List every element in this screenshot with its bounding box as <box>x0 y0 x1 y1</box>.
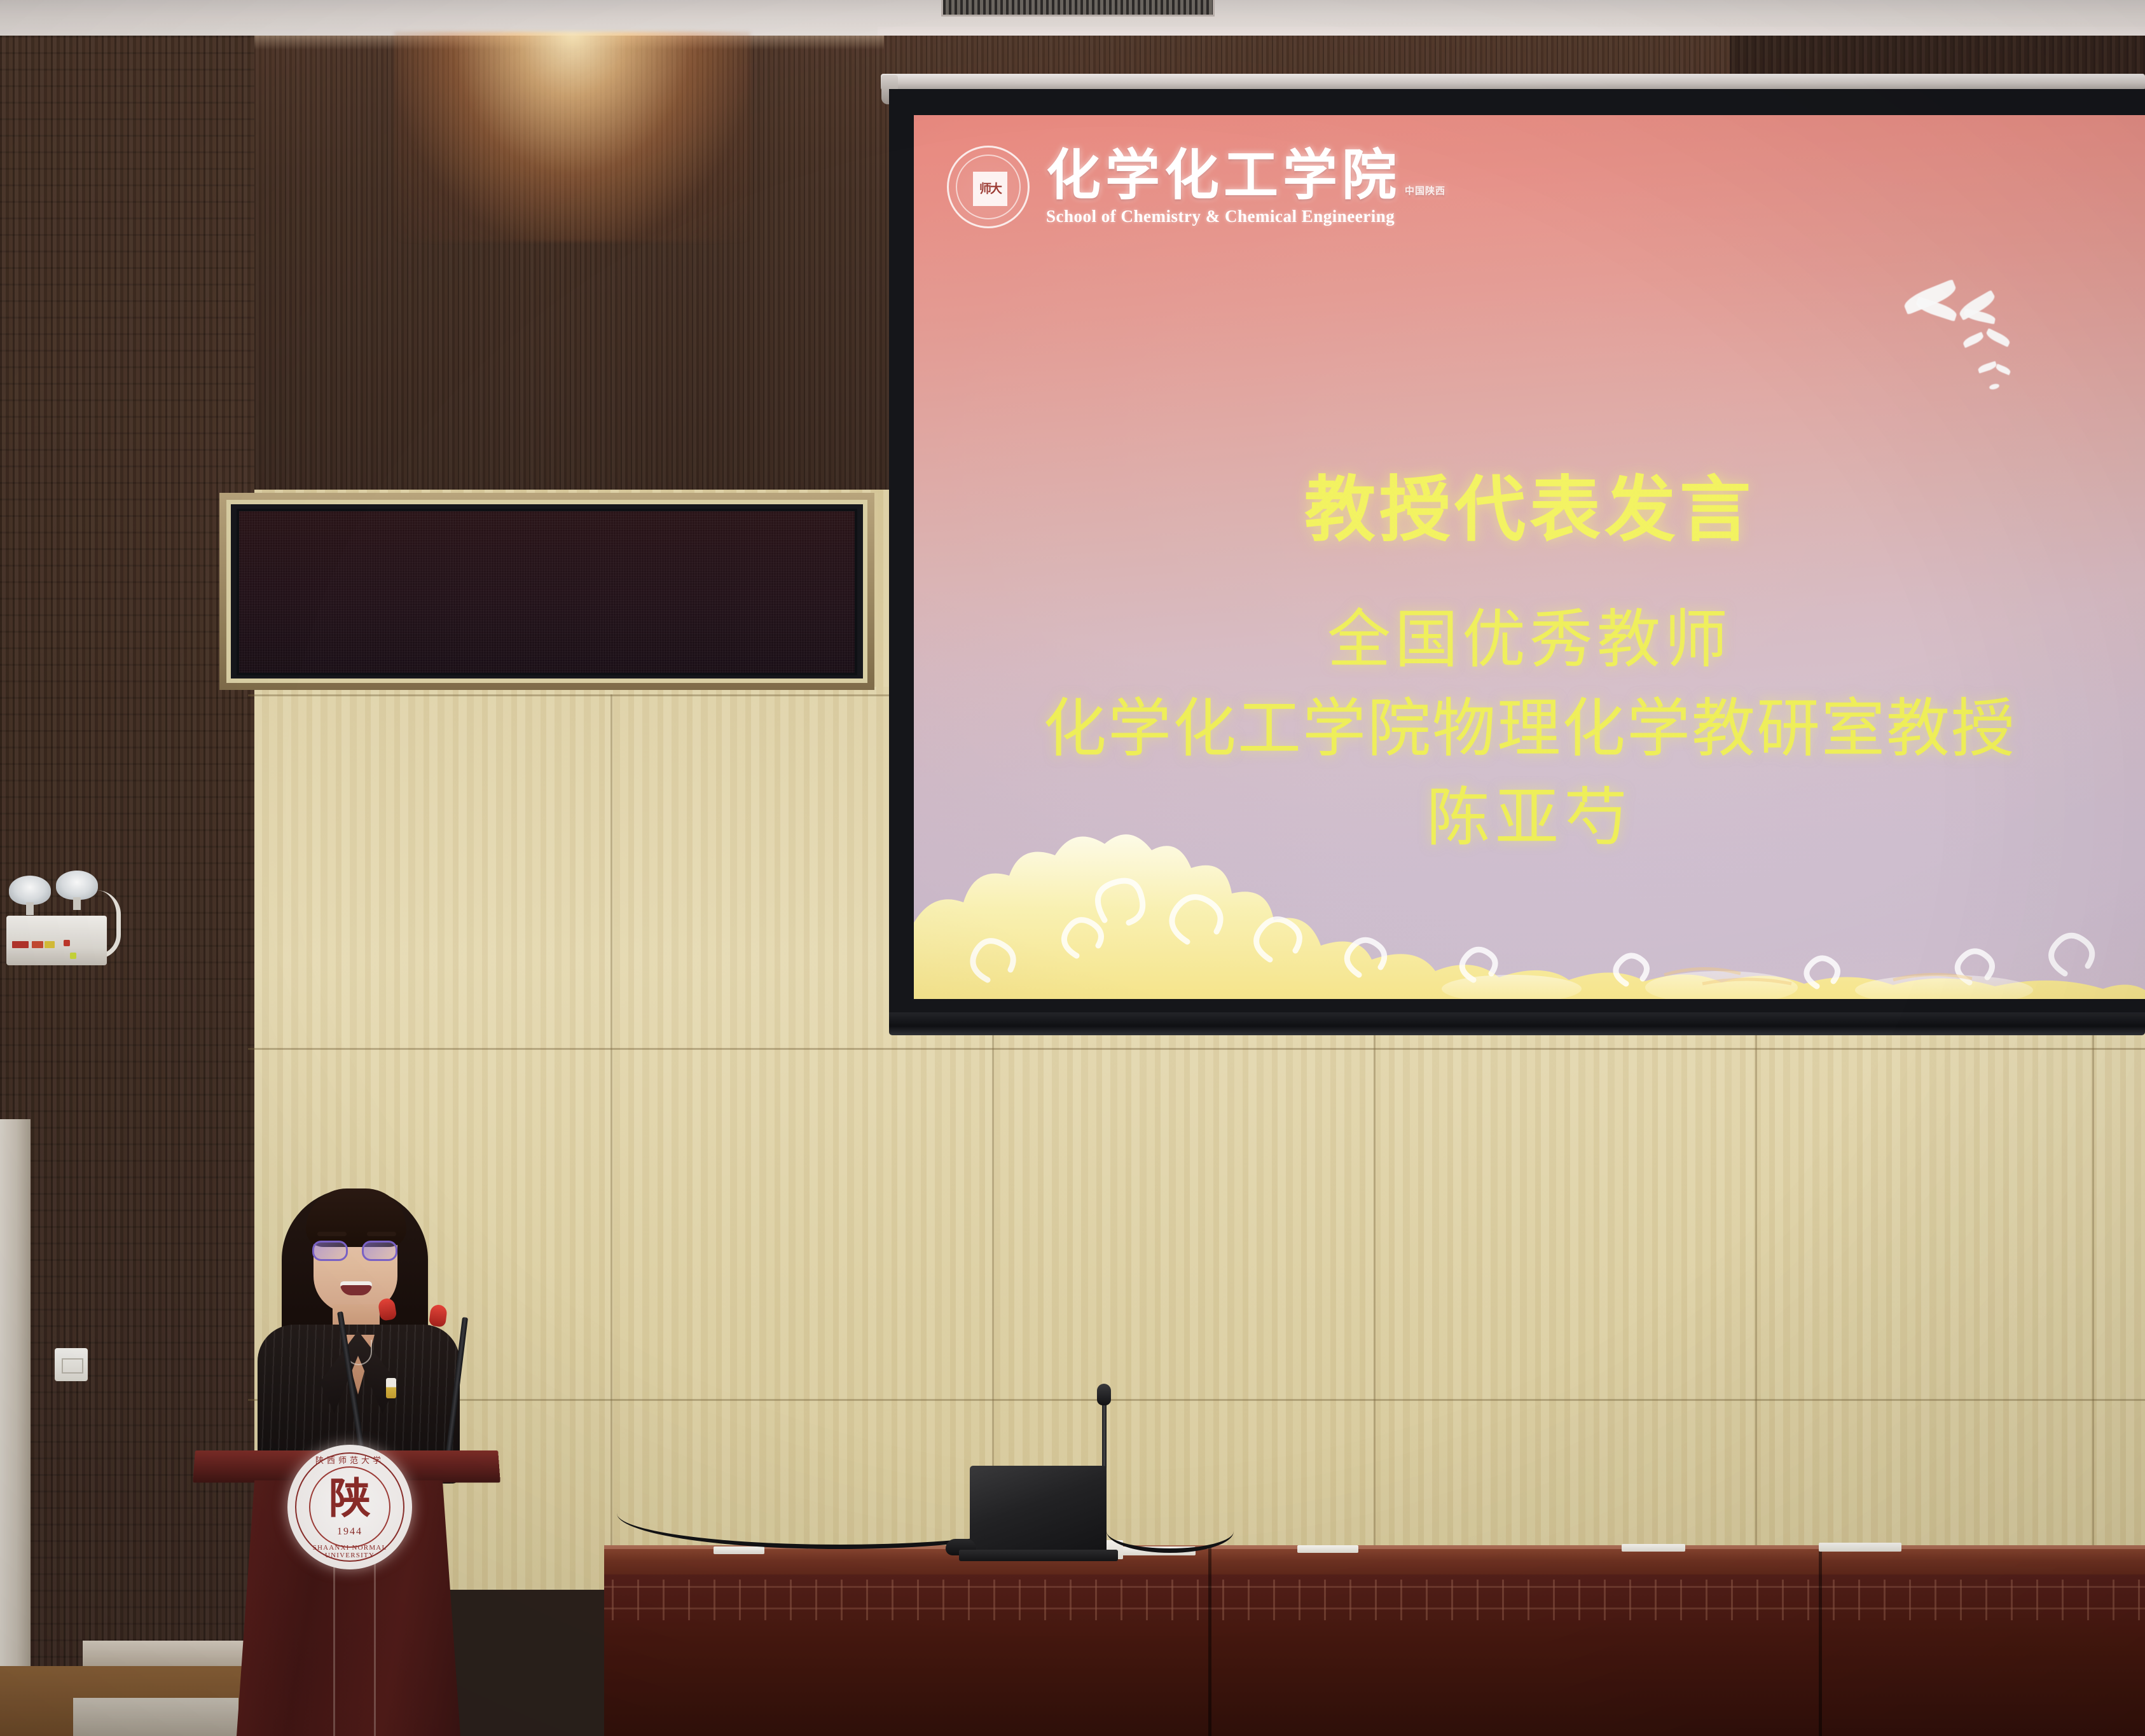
slide-org-name-en: School of Chemistry & Chemical Engineeri… <box>1046 207 1445 226</box>
slide-logo: 陕西师范大学 师大 化学化工学院中国陕西 School of Chemistry… <box>947 146 1445 228</box>
door-frame <box>0 1119 31 1666</box>
wall-tile-seam <box>248 1048 2145 1050</box>
university-seal-icon: 陕西师范大学 师大 <box>947 146 1030 228</box>
projection-screen-roller[interactable] <box>881 74 2145 90</box>
podium-seam <box>333 1545 335 1736</box>
wall-tile-seam <box>248 1399 2145 1401</box>
emergency-light-indicator <box>64 940 70 946</box>
podium-seam <box>374 1545 376 1736</box>
projection-screen-bottom-bar <box>889 1012 2145 1035</box>
desk-fret-pattern <box>604 1580 2145 1620</box>
wall-tile-seam <box>2092 1035 2094 1590</box>
auspicious-clouds-decoration-icon <box>914 789 2145 999</box>
speaker-hair-fringe <box>306 1188 406 1247</box>
desk-paper[interactable] <box>1297 1545 1358 1553</box>
slide-subtitle-line1: 全国优秀教师 <box>914 605 2145 675</box>
floor-panel <box>73 1698 238 1736</box>
seal-center-glyph: 师大 <box>973 172 1007 206</box>
emergency-lamp-icon <box>56 871 98 900</box>
org-name-cn-text: 化学化工学院 <box>1046 144 1401 207</box>
emblem-seal-glyph: 陕 <box>287 1478 412 1520</box>
slide-logo-text: 化学化工学院中国陕西 School of Chemistry & Chemica… <box>1046 148 1445 226</box>
desk-panel-seam <box>1208 1545 1211 1736</box>
podium-microphone-head-icon[interactable] <box>429 1304 448 1328</box>
ceiling-air-vent-icon <box>941 0 1215 17</box>
emblem-cn-name: 陕西师范大学 <box>287 1454 412 1466</box>
slide-title: 教授代表发言 <box>914 471 2145 549</box>
wall-lamp-glow <box>394 32 750 242</box>
emergency-light-indicator <box>70 953 76 959</box>
speaker-glasses-icon <box>312 1241 401 1262</box>
podium-university-emblem: 陕西师范大学 陕 1944 SHAANXI NORMAL UNIVERSITY <box>287 1445 412 1569</box>
org-superscript: 中国陕西 <box>1405 185 1445 196</box>
glasses-lens <box>312 1241 348 1261</box>
emblem-founding-year: 1944 <box>287 1526 412 1538</box>
desk-paper[interactable] <box>1819 1543 1901 1552</box>
laptop-base[interactable] <box>959 1550 1118 1561</box>
slide-org-name-cn: 化学化工学院中国陕西 <box>1046 148 1445 203</box>
speaker-eyebrow <box>367 1232 396 1236</box>
speaker-lapel-pin-icon <box>386 1378 396 1398</box>
emblem-en-name: SHAANXI NORMAL UNIVERSITY <box>287 1544 412 1559</box>
emergency-light-body <box>6 916 107 965</box>
emergency-light-label <box>12 941 29 948</box>
doves-decoration-icon <box>1896 277 2043 398</box>
speaker-eyebrow <box>317 1232 347 1236</box>
gooseneck-microphone-head-icon[interactable] <box>1097 1384 1111 1405</box>
emergency-light-label <box>45 941 55 948</box>
emergency-lamp-stem <box>26 902 34 915</box>
desk-paper[interactable] <box>714 1547 764 1554</box>
emergency-lamp-icon <box>9 876 51 905</box>
baseboard <box>83 1641 254 1666</box>
desk-panel-seam <box>1819 1545 1822 1736</box>
desk-paper[interactable] <box>1622 1544 1685 1552</box>
glasses-lens <box>362 1241 397 1261</box>
speaker-mouth <box>340 1281 372 1295</box>
emergency-lamp-stem <box>73 897 81 910</box>
presentation-slide: 陕西师范大学 师大 化学化工学院中国陕西 School of Chemistry… <box>914 115 2145 999</box>
laptop-screen[interactable] <box>970 1466 1107 1553</box>
lecture-hall-scene: 陕西师范大学 师大 化学化工学院中国陕西 School of Chemistry… <box>0 0 2145 1736</box>
wall-tile-seam <box>610 694 612 1590</box>
wall-outlet[interactable] <box>55 1348 88 1381</box>
led-display-panel[interactable] <box>237 509 857 675</box>
emergency-light-label <box>32 941 43 948</box>
slide-subtitle-line2: 化学化工学院物理化学教研室教授 <box>914 694 2145 764</box>
